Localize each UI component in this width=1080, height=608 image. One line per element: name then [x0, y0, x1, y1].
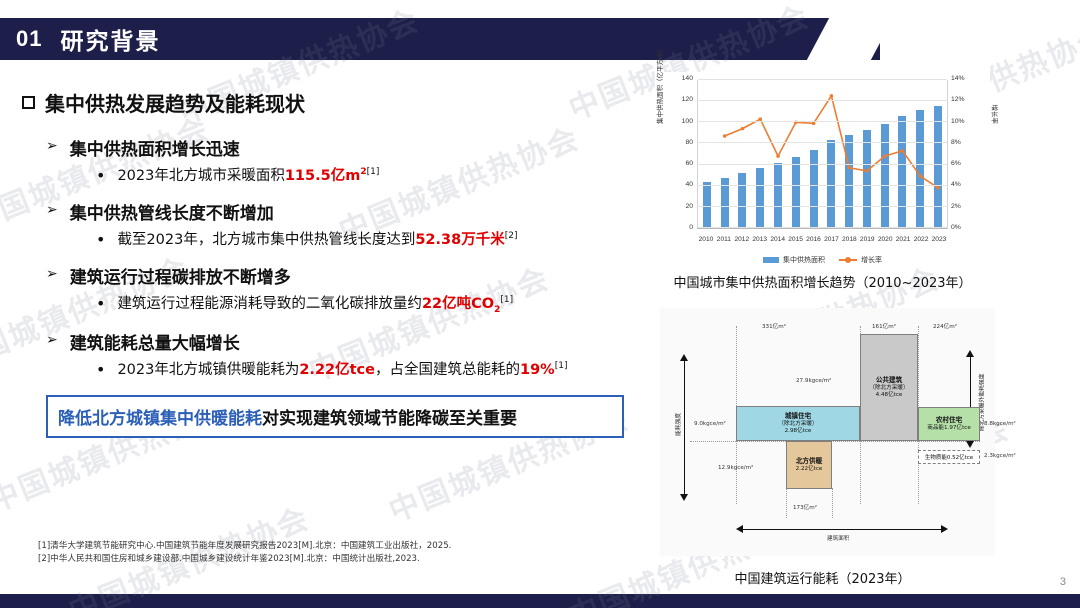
subsection-heading: 集中供热发展趋势及能耗现状 — [22, 88, 642, 117]
bullet-level2-text: 截至2023年，北方城市集中供热管线长度达到52.38万千米[2] — [117, 230, 517, 251]
sub-highlight: 22亿吨CO — [422, 296, 494, 312]
chart-y2-tick: 4% — [951, 181, 977, 188]
block-rural-residential: 农村住宅 商品能1.97亿tce — [918, 407, 980, 441]
label-public-building-intensity: 27.9kgce/m² — [796, 378, 831, 384]
arrow-bullet-icon: ➢ — [46, 135, 58, 157]
sub-highlight: 115.5亿m — [285, 168, 360, 184]
block-value: 商品能1.97亿tce — [919, 425, 979, 432]
chart-caption-1: 中国城市集中供热面积增长趋势（2010~2023年） — [650, 272, 995, 291]
x-axis-arrow-left-icon — [736, 525, 743, 533]
chart-x-tick: 2017 — [822, 236, 840, 243]
chart-plot-area — [697, 80, 948, 229]
bullet-level2-text: 2023年北方城市采暖面积115.5亿m2[1] — [117, 166, 379, 187]
y-axis-arrow-down-icon — [680, 494, 688, 501]
chart-gridline — [698, 227, 947, 228]
block-biomass: 生物质能0.52亿tce — [918, 450, 980, 464]
legend-item-line: 增长率 — [839, 255, 882, 265]
dot-bullet-icon: • — [96, 166, 105, 185]
chart-gridline — [698, 164, 947, 165]
references-block: [1]清华大学建筑节能研究中心.中国建筑节能年度发展研究报告2023[M].北京… — [38, 540, 451, 567]
bullet-level1: ➢ 集中供热面积增长迅速 — [46, 135, 642, 160]
chart-gridline — [698, 185, 947, 186]
chart-y-tick: 100 — [663, 118, 693, 125]
label-public-building-area: 161亿m² — [872, 322, 896, 330]
section-number: 01 — [16, 26, 42, 52]
block-name: 城镇住宅 — [737, 412, 859, 420]
chart-line-marker — [883, 154, 887, 158]
chart-y2-tick: 14% — [951, 75, 977, 82]
chart-y2-tick: 2% — [951, 203, 977, 210]
dot-bullet-icon: • — [96, 294, 105, 313]
chart-legend: 集中供热面积 增长率 — [655, 255, 990, 265]
chart-y2-tick: 12% — [951, 96, 977, 103]
chart-gridline — [698, 206, 947, 207]
guide-line — [832, 488, 833, 518]
sub-highlight-subscript: 2 — [494, 305, 500, 315]
label-urban-residential-area: 331亿m² — [762, 322, 786, 330]
chart-y-tick: 120 — [663, 96, 693, 103]
diagram-x-axis-label: 建筑面积 — [827, 534, 849, 542]
chart-caption-2: 中国建筑运行能耗（2023年） — [650, 568, 995, 587]
sub-pre-text: 2023年北方城镇供暖能耗为 — [117, 362, 299, 378]
content-body: 集中供热发展趋势及能耗现状 ➢ 集中供热面积增长迅速 • 2023年北方城市采暖… — [22, 88, 642, 438]
chart-gridline — [698, 142, 947, 143]
chart-x-tick: 2011 — [715, 236, 733, 243]
chart-y2-tick: 0% — [951, 224, 977, 231]
chart-x-tick: 2010 — [697, 236, 715, 243]
page-number: 3 — [1060, 576, 1066, 588]
chart-x-axis-ticks: 2010201120122013201420152016201720182019… — [697, 236, 948, 243]
sub-pre-text: 2023年北方城市采暖面积 — [117, 168, 284, 184]
label-rural-residential-area: 224亿m² — [933, 322, 957, 330]
bullet-level1: ➢ 集中供热管线长度不断增加 — [46, 199, 642, 224]
chart-x-tick: 2022 — [912, 236, 930, 243]
block-name: 生物质能 — [925, 455, 947, 461]
diagram-y-axis-label: 能耗强度 — [673, 413, 682, 436]
chart-line-marker — [723, 134, 727, 138]
sub-pre-text: 截至2023年，北方城市集中供热管线长度达到 — [117, 232, 415, 248]
y-axis-line — [684, 360, 685, 495]
label-northern-heating-intensity: 12.9kgce/m² — [718, 465, 753, 471]
footer-bar — [0, 594, 1080, 608]
chart-y-tick: 60 — [663, 160, 693, 167]
block-subname: （除北方采暖） — [861, 385, 917, 392]
bullet-level2: • 截至2023年，北方城市集中供热管线长度达到52.38万千米[2] — [96, 230, 642, 251]
arrow-bullet-icon: ➢ — [46, 199, 58, 221]
sub-highlight: 2.22亿tce — [299, 362, 375, 378]
square-bullet-icon — [22, 96, 35, 109]
label-rural-residential-intensity: 8.8kgce/m² — [984, 421, 1016, 427]
sub-highlight-2: 19% — [520, 362, 555, 378]
sub-highlight: 52.38万千米 — [415, 232, 504, 248]
reference-marker: [1] — [500, 295, 513, 305]
y-axis-arrow-up-icon — [680, 354, 688, 361]
chart-line-marker — [936, 186, 940, 190]
chart-y-tick: 20 — [663, 203, 693, 210]
block-value: 2.98亿tce — [737, 428, 859, 435]
label-biomass-intensity: 2.3kgce/m² — [984, 453, 1016, 459]
chart-y2-axis-label: 增长率 — [990, 105, 1000, 125]
legend-line-swatch — [839, 259, 857, 261]
block-name: 公共建筑 — [861, 376, 917, 384]
chart-y-tick: 0 — [663, 224, 693, 231]
block-public-building: 公共建筑 （除北方采暖） 4.48亿tce — [860, 334, 918, 441]
chart-y-axis-label: 集中供热面积（亿平方米） — [654, 46, 664, 124]
bullet-level2: • 2023年北方城镇供暖能耗为2.22亿tce，占全国建筑总能耗的19%[1] — [96, 360, 642, 381]
chart-y2-tick: 6% — [951, 160, 977, 167]
block-subname: （除北方采暖） — [737, 421, 859, 428]
legend-item-bars: 集中供热面积 — [763, 255, 825, 265]
section-banner-content: 01 研究背景 — [0, 18, 820, 60]
building-energy-diagram: 能耗强度 除北方采暖外能耗强度 建筑面积 公共建筑 （除北方采暖） 4.48亿t… — [660, 308, 995, 556]
callout-highlight-text: 降低北方城镇集中供暖能耗 — [58, 409, 262, 429]
legend-label: 增长率 — [861, 255, 882, 265]
chart-x-tick: 2012 — [733, 236, 751, 243]
bullet-level2: • 建筑运行过程能源消耗导致的二氧化碳排放量约22亿吨CO2[1] — [96, 294, 642, 317]
bullet-level1-text: 建筑运行过程碳排放不断增多 — [70, 263, 291, 288]
chart-y-tick: 140 — [663, 75, 693, 82]
x-axis-line — [742, 529, 942, 530]
legend-label: 集中供热面积 — [783, 255, 825, 265]
chart-x-tick: 2013 — [751, 236, 769, 243]
chart-line-marker — [830, 94, 834, 98]
block-subname: 商品能 — [927, 425, 944, 431]
sub-pre-text: 建筑运行过程能源消耗导致的二氧化碳排放量约 — [117, 296, 422, 312]
chart-line-marker — [847, 166, 851, 170]
chart-y2-tick: 8% — [951, 139, 977, 146]
chart-x-tick: 2015 — [787, 236, 805, 243]
dot-bullet-icon: • — [96, 230, 105, 249]
chart-gridline — [698, 79, 947, 80]
block-value: 2.22亿tce — [787, 466, 831, 473]
chart-x-tick: 2021 — [894, 236, 912, 243]
bullet-level1-text: 建筑能耗总量大幅增长 — [70, 329, 240, 354]
chart-x-tick: 2020 — [876, 236, 894, 243]
key-message-callout: 降低北方城镇集中供暖能耗对实现建筑领域节能降碳至关重要 — [46, 395, 624, 438]
chart-x-tick: 2019 — [858, 236, 876, 243]
block-northern-heating: 北方供暖 2.22亿tce — [786, 441, 832, 489]
bullet-level2: • 2023年北方城市采暖面积115.5亿m2[1] — [96, 166, 642, 187]
chart-x-tick: 2018 — [840, 236, 858, 243]
baseline-guide — [690, 441, 980, 442]
block-name: 北方供暖 — [787, 457, 831, 465]
chart-gridline — [698, 121, 947, 122]
chart-y-tick: 80 — [663, 139, 693, 146]
block-urban-residential: 城镇住宅 （除北方采暖） 2.98亿tce — [736, 406, 860, 441]
chart-x-tick: 2023 — [930, 236, 948, 243]
bullet-level2-text: 建筑运行过程能源消耗导致的二氧化碳排放量约22亿吨CO2[1] — [117, 294, 513, 317]
chart-line-marker — [919, 174, 923, 178]
y2-axis-arrow-down-icon — [966, 441, 974, 448]
reference-marker: [1] — [367, 167, 380, 177]
chart-x-tick: 2016 — [805, 236, 823, 243]
bullet-level1: ➢ 建筑运行过程碳排放不断增多 — [46, 263, 642, 288]
chart-y2-tick: 10% — [951, 118, 977, 125]
guide-line — [786, 488, 787, 518]
chart-line-marker — [776, 154, 780, 158]
block-biomass-text: 生物质能0.52亿tce — [925, 453, 973, 461]
chart-x-tick: 2014 — [769, 236, 787, 243]
legend-bar-swatch — [763, 257, 779, 263]
sub-mid-text: ，占全国建筑总能耗的 — [375, 362, 520, 378]
block-value: 0.52亿tce — [947, 455, 973, 461]
bullet-level1-text: 集中供热面积增长迅速 — [70, 135, 240, 160]
dot-bullet-icon: • — [96, 360, 105, 379]
x-axis-arrow-right-icon — [941, 525, 948, 533]
arrow-bullet-icon: ➢ — [46, 329, 58, 351]
reference-item: [1]清华大学建筑节能研究中心.中国建筑节能年度发展研究报告2023[M].北京… — [38, 540, 451, 553]
block-value: 4.48亿tce — [861, 392, 917, 399]
label-northern-heating-area: 173亿m² — [793, 503, 817, 511]
chart-y-tick: 40 — [663, 181, 693, 188]
heating-area-chart: 集中供热面积（亿平方米） 增长率 020406080100120140 0%2%… — [655, 72, 990, 267]
chart-line-marker — [741, 127, 745, 131]
subsection-heading-text: 集中供热发展趋势及能耗现状 — [45, 88, 305, 117]
chart-line-marker — [865, 169, 869, 173]
y2-axis-arrow-up-icon — [966, 350, 974, 357]
bullet-level1-text: 集中供热管线长度不断增加 — [70, 199, 274, 224]
arrow-bullet-icon: ➢ — [46, 263, 58, 285]
chart-line-marker — [901, 149, 905, 153]
bullet-level2-text: 2023年北方城镇供暖能耗为2.22亿tce，占全国建筑总能耗的19%[1] — [117, 360, 567, 381]
reference-item: [2]中华人民共和国住房和城乡建设部.中国城乡建设统计年鉴2023[M].北京：… — [38, 553, 451, 566]
chart-gridline — [698, 100, 947, 101]
callout-rest-text: 对实现建筑领域节能降碳至关重要 — [262, 409, 517, 429]
label-urban-residential-intensity: 9.0kgce/m² — [694, 421, 726, 427]
reference-marker: [1] — [555, 361, 568, 371]
section-title: 研究背景 — [60, 22, 160, 56]
bullet-level1: ➢ 建筑能耗总量大幅增长 — [46, 329, 642, 354]
reference-marker: [2] — [505, 231, 518, 241]
block-value-num: 1.97亿tce — [944, 425, 971, 431]
block-name: 农村住宅 — [919, 416, 979, 424]
